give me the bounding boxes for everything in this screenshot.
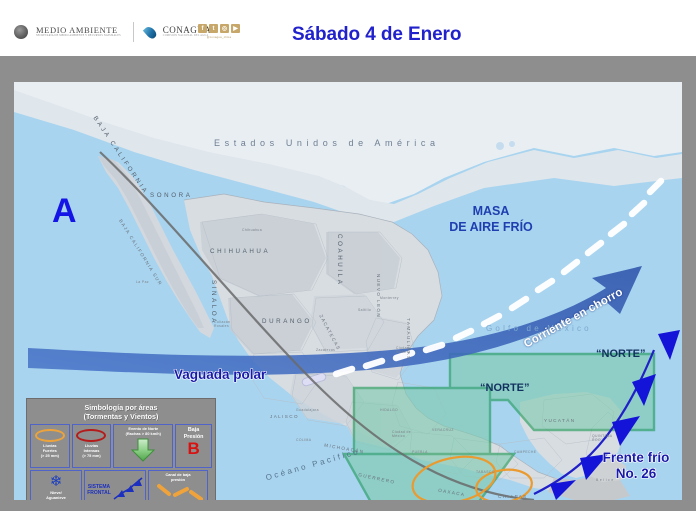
legend-row-1: LluviasFuertes(> 25 mm) LluviasIntensas(…: [29, 424, 213, 470]
institutional-logos: MEDIO AMBIENTE SECRETARÍA DE MEDIO AMBIE…: [14, 22, 211, 42]
legend-item-evento-norte: Evento de Norte(Rachas > 80 km/h): [113, 424, 173, 468]
orange-ellipse-icon: [35, 429, 65, 442]
map-canvas[interactable]: Estados Unidos de América Golfo de Méxic…: [14, 82, 682, 500]
page-header: MEDIO AMBIENTE SECRETARÍA DE MEDIO AMBIE…: [0, 0, 696, 56]
map-border-right: [682, 56, 696, 511]
legend-row-2: ❄ Nieve/Aguanieve SISTEMAFRONTAL: [29, 470, 213, 500]
legend-caption-sistema-frontal: SISTEMAFRONTAL: [87, 484, 111, 497]
national-seal-icon: [14, 25, 28, 39]
legend-item-baja-presion: BajaPresión B: [175, 424, 212, 468]
water-drop-icon: [143, 24, 158, 40]
weather-map-page: MEDIO AMBIENTE SECRETARÍA DE MEDIO AMBIE…: [0, 0, 696, 530]
youtube-icon[interactable]: ▶: [231, 24, 240, 33]
frontal-system-icon: [113, 477, 143, 500]
legend-caption-nieve: Nieve/Aguanieve: [46, 491, 66, 500]
legend-item-sistema-frontal: SISTEMAFRONTAL: [84, 470, 146, 500]
medio-ambiente-logo: MEDIO AMBIENTE SECRETARÍA DE MEDIO AMBIE…: [36, 26, 121, 38]
map-frame: Estados Unidos de América Golfo de Méxic…: [0, 56, 696, 511]
legend-title: Simbología por áreas (Tormentas y Viento…: [29, 401, 213, 424]
snowflake-icon: ❄: [50, 474, 63, 489]
map-legend: Simbología por áreas (Tormentas y Viento…: [26, 398, 216, 500]
logo-divider: [133, 22, 134, 42]
legend-caption-lluvias-intensas: LluviasIntensas(> 75 mm): [82, 444, 100, 459]
map-border-top: [0, 56, 696, 82]
map-border-left: [0, 56, 14, 511]
social-media-bar: f t ◎ ▶ @conagua_clima: [198, 24, 240, 39]
legend-title-line2: (Tormentas y Vientos): [29, 412, 213, 421]
legend-item-canal-baja-presion: Canal de bajapresión: [148, 470, 208, 500]
map-border-bottom: [0, 500, 696, 511]
legend-caption-evento-norte: Evento de Norte(Rachas > 80 km/h): [126, 427, 161, 437]
page-title: Sábado 4 de Enero: [292, 24, 461, 46]
green-down-arrow-icon: [130, 438, 156, 462]
legend-caption-lluvias-fuertes: LluviasFuertes(> 25 mm): [41, 444, 59, 459]
social-handle-label: @conagua_clima: [207, 35, 231, 39]
low-pressure-trough-icon: [153, 483, 203, 500]
facebook-icon[interactable]: f: [198, 24, 207, 33]
legend-item-lluvias-fuertes: LluviasFuertes(> 25 mm): [30, 424, 70, 468]
medio-ambiente-subtitle: SECRETARÍA DE MEDIO AMBIENTE Y RECURSOS …: [36, 35, 121, 38]
instagram-icon[interactable]: ◎: [220, 24, 229, 33]
letter-b-icon: B: [187, 440, 199, 457]
page-footer: [0, 511, 696, 530]
legend-item-nieve: ❄ Nieve/Aguanieve: [30, 470, 82, 500]
legend-title-line1: Simbología por áreas: [29, 403, 213, 412]
legend-item-lluvias-intensas: LluviasIntensas(> 75 mm): [72, 424, 112, 468]
red-ellipse-icon: [76, 429, 106, 442]
twitter-icon[interactable]: t: [209, 24, 218, 33]
legend-caption-canal-baja-presion: Canal de bajapresión: [165, 473, 190, 483]
